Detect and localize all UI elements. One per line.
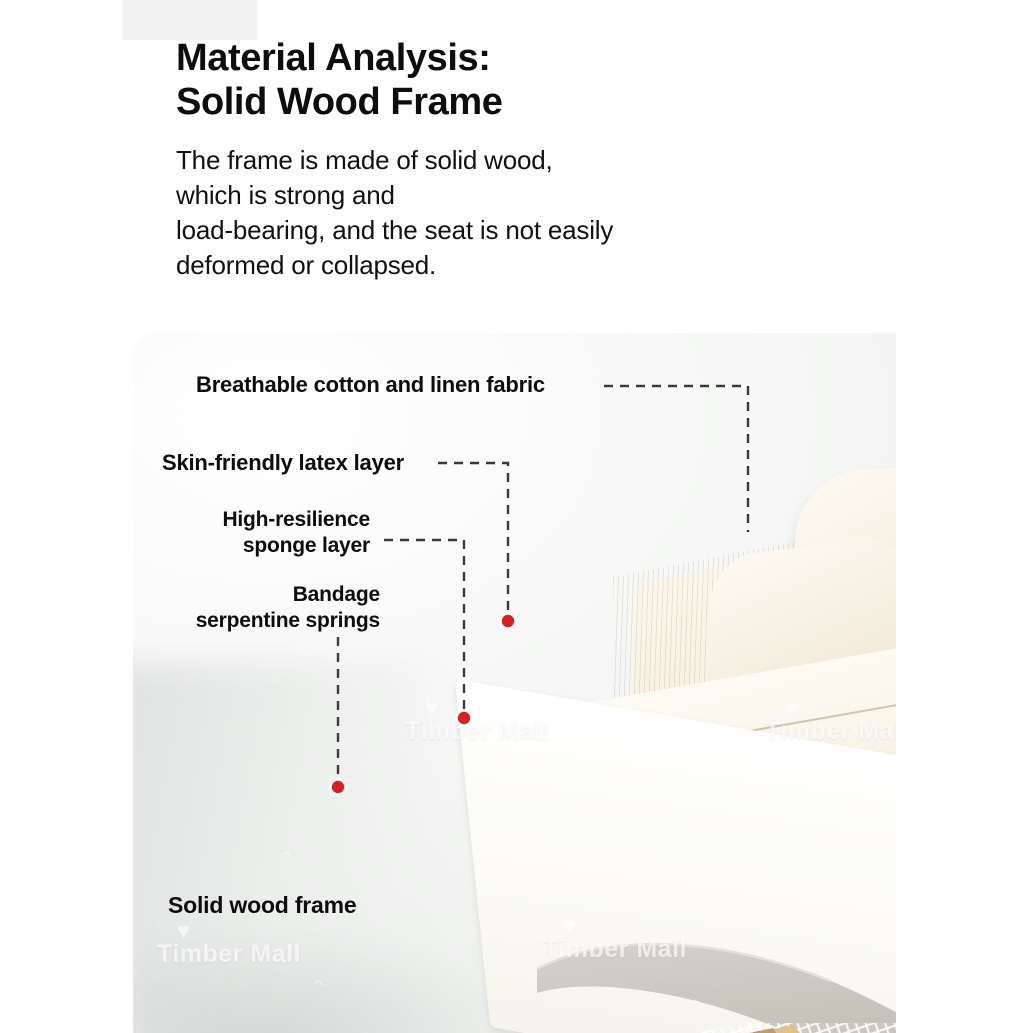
sponge-layer xyxy=(531,933,896,1033)
page-description: The frame is made of solid wood, which i… xyxy=(176,143,896,283)
callout-label-breathable: Breathable cotton and linen fabric xyxy=(196,372,545,398)
page-heading: Material Analysis: Solid Wood Frame xyxy=(176,36,876,124)
callout-label-latex: Skin-friendly latex layer xyxy=(162,450,404,476)
product-photo: ♥ Timber Mall ♥ Timber Mall ♥ Timber Mal… xyxy=(133,333,896,1033)
page-title-line1: Material Analysis: xyxy=(176,37,491,79)
page-title-line2: Solid Wood Frame xyxy=(176,81,502,123)
callout-label-sponge: High-resilience sponge layer xyxy=(150,507,370,559)
corner-accent-block xyxy=(122,0,257,40)
callout-label-springs: Bandage serpentine springs xyxy=(120,582,380,634)
infographic-page: Material Analysis: Solid Wood Frame The … xyxy=(0,0,1024,1024)
callout-label-frame: Solid wood frame xyxy=(168,892,356,918)
solid-wood-frame-structure xyxy=(253,1023,896,1033)
watermark-heart-icon: ♥ xyxy=(425,695,438,721)
